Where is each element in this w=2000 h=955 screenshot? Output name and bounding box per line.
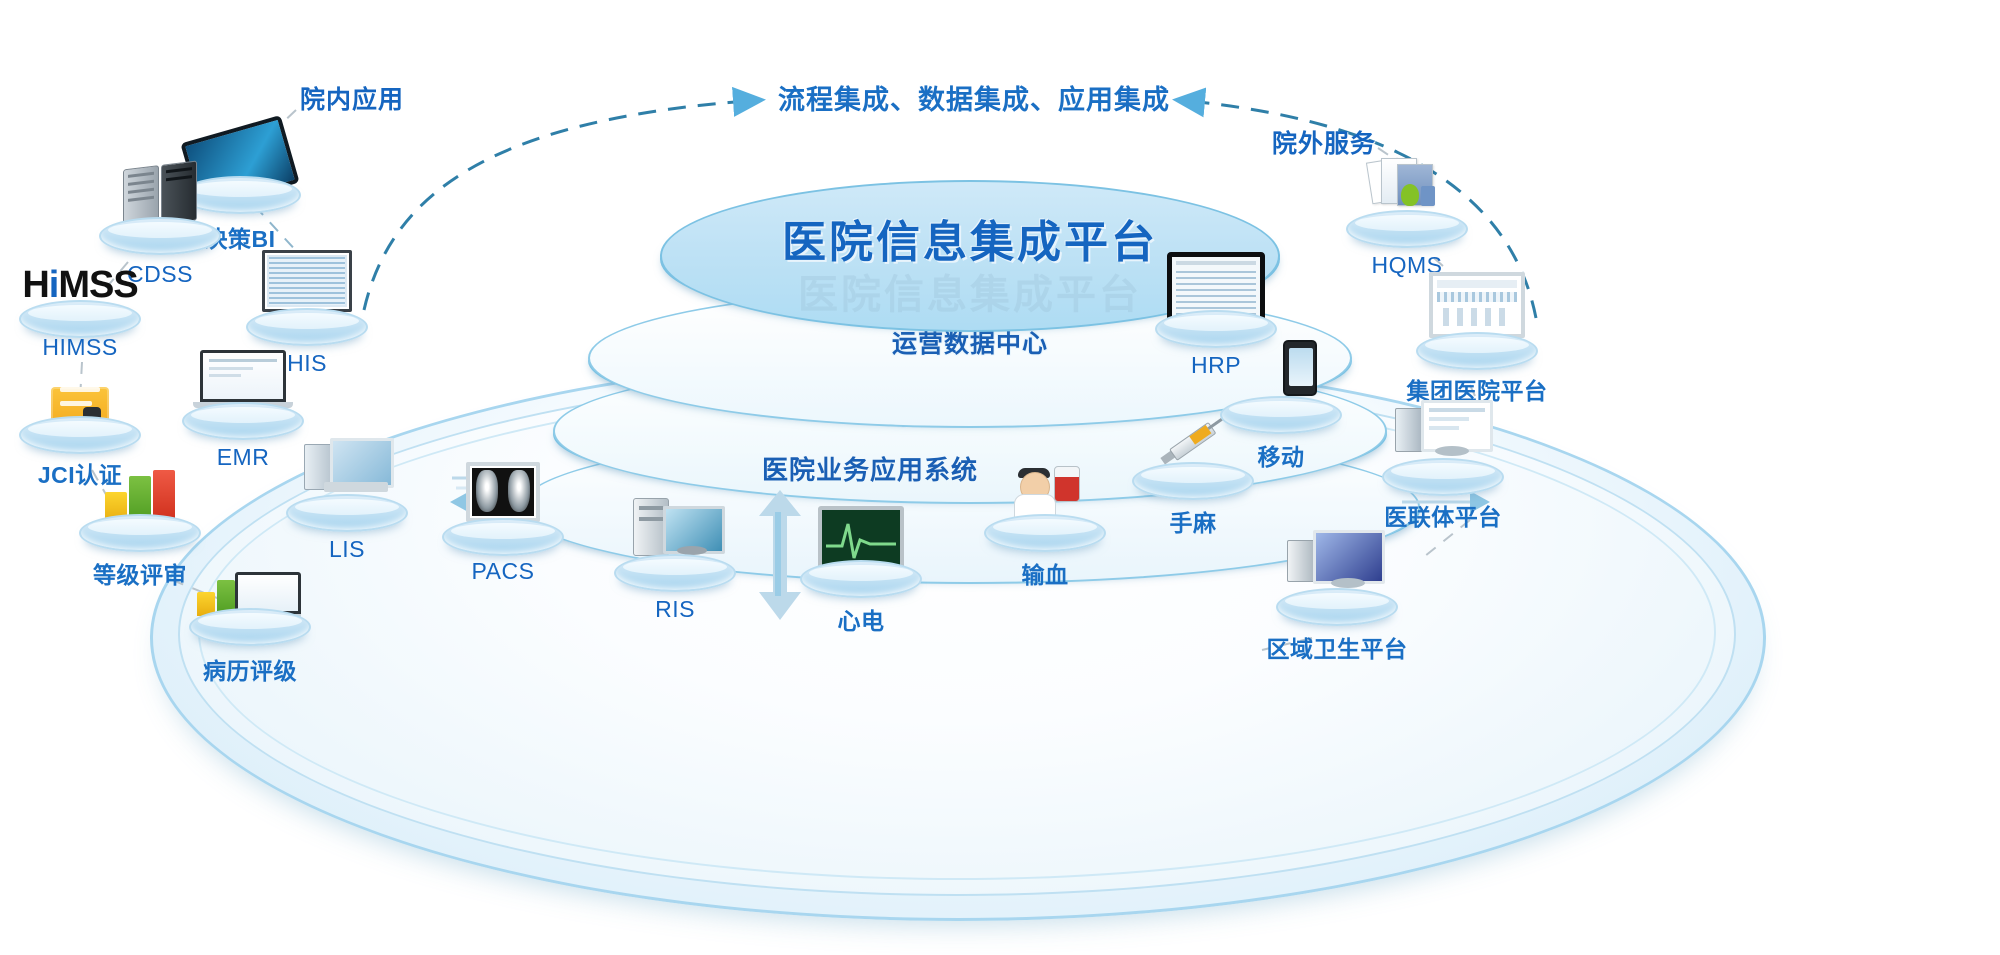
- node-label-ris: RIS: [590, 596, 760, 623]
- node-label-emr: EMR: [158, 444, 328, 471]
- node-pedestal: [79, 514, 201, 552]
- outer-service-label: 院外服务: [1272, 124, 1376, 160]
- node-label-hrp: HRP: [1131, 352, 1301, 379]
- node-pedestal: [442, 518, 564, 556]
- desktop-region-icon: [1287, 530, 1387, 588]
- node-pedestal: [800, 560, 922, 598]
- node-label-mobile: 移动: [1196, 438, 1366, 472]
- node-pedestal: [1382, 458, 1504, 496]
- lab-computer-icon: [304, 438, 390, 496]
- node-pedestal: [189, 608, 311, 646]
- node-pedestal: [99, 217, 221, 255]
- node-label-pacs: PACS: [418, 558, 588, 585]
- node-label-blood: 输血: [960, 556, 1130, 590]
- node-pedestal: [1346, 210, 1468, 248]
- desktop-network-icon: [1395, 400, 1491, 458]
- node-label-himss: HIMSS: [0, 334, 165, 361]
- node-label-lis: LIS: [262, 536, 432, 563]
- laptop-icon: [200, 350, 286, 408]
- node-pedestal: [179, 176, 301, 214]
- tower-pc-icon: [629, 498, 721, 556]
- node-pedestal: [19, 416, 141, 454]
- node-pedestal: [19, 300, 141, 338]
- diagram-canvas: 流程集成、数据集成、应用集成 院内应用 院外服务 基础数据中心 临床数据中心 运…: [0, 0, 2000, 955]
- node-label-alliance: 医联体平台: [1358, 498, 1528, 532]
- node-pedestal: [246, 308, 368, 346]
- integration-banner-text: 流程集成、数据集成、应用集成: [778, 78, 1170, 117]
- node-pedestal: [614, 554, 736, 592]
- node-label-emr-rating: 病历评级: [165, 652, 335, 686]
- node-pedestal: [1416, 332, 1538, 370]
- node-pedestal: [1155, 310, 1277, 348]
- node-pedestal: [182, 402, 304, 440]
- inner-application-label: 院内应用: [300, 80, 404, 116]
- node-pedestal: [286, 494, 408, 532]
- node-pedestal: [984, 514, 1106, 552]
- blood-transfusion-icon: [1010, 462, 1080, 518]
- node-label-regional: 区域卫生平台: [1252, 630, 1422, 664]
- node-pedestal: [1276, 588, 1398, 626]
- node-pedestal: [1220, 396, 1342, 434]
- documents-icon: [1367, 158, 1447, 214]
- node-label-ecg: 心电: [776, 602, 946, 636]
- node-label-anesthesia: 手麻: [1108, 504, 1278, 538]
